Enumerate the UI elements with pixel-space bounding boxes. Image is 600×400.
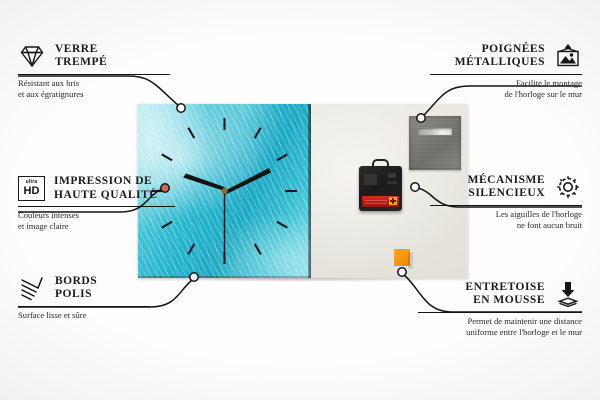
feature-title: BORDS POLIS bbox=[55, 275, 97, 302]
quartz-mechanism bbox=[359, 166, 402, 211]
battery bbox=[362, 196, 399, 207]
feature-title: POIGNÉES MÉTALLIQUES bbox=[455, 43, 545, 70]
feature-impression-haute-qualite: ultra HD IMPRESSION DE HAUTE QUALITÉ Cou… bbox=[18, 175, 175, 232]
foam-spacer bbox=[394, 249, 410, 266]
hanging-frame-icon bbox=[554, 42, 582, 70]
infographic-canvas: VERRE TREMPÉ Résistant aux bris et aux é… bbox=[0, 0, 600, 400]
polished-edges-icon bbox=[18, 274, 46, 302]
diamond-icon bbox=[18, 42, 46, 70]
foam-spacer-shadow bbox=[408, 252, 413, 269]
feature-subtitle: Résistant aux bris et aux égratignures bbox=[18, 78, 170, 100]
arrow-down-stack-icon bbox=[554, 280, 582, 308]
feature-title: IMPRESSION DE HAUTE QUALITÉ bbox=[54, 175, 157, 202]
product-image bbox=[138, 104, 468, 278]
feature-title: MÉCANISME SILENCIEUX bbox=[468, 174, 545, 201]
feature-title: VERRE TREMPÉ bbox=[55, 43, 107, 70]
feature-entretoise-en-mousse: ENTRETOISE EN MOUSSE Permet de maintenir… bbox=[418, 280, 582, 338]
ultra-hd-main-label: HD bbox=[24, 186, 40, 197]
feature-divider bbox=[18, 74, 170, 75]
feature-divider bbox=[430, 205, 582, 206]
metal-hanger-plate bbox=[409, 116, 461, 170]
feature-bords-polis: BORDS POLIS Surface lisse et sûre bbox=[18, 274, 150, 321]
feature-verre-trempe: VERRE TREMPÉ Résistant aux bris et aux é… bbox=[18, 42, 170, 100]
feature-title: ENTRETOISE EN MOUSSE bbox=[465, 281, 545, 308]
mechanism-detail bbox=[364, 174, 377, 185]
mechanism-detail bbox=[387, 181, 397, 184]
brushed-metal-grain bbox=[409, 116, 461, 170]
feature-subtitle: Permet de maintenir une distance uniform… bbox=[418, 316, 582, 338]
hanger-slot bbox=[418, 128, 452, 135]
feature-subtitle: Les aiguilles de l'horloge ne font aucun… bbox=[430, 209, 582, 231]
feature-subtitle: Couleurs intenses et image claire bbox=[18, 210, 175, 232]
feature-poignees-metalliques: POIGNÉES MÉTALLIQUES Facilite le montage… bbox=[430, 42, 582, 100]
gear-icon bbox=[554, 173, 582, 201]
mechanism-detail bbox=[388, 173, 396, 178]
feature-subtitle: Facilite le montage de l'horloge sur le … bbox=[430, 78, 582, 100]
feature-mecanisme-silencieux: MÉCANISME SILENCIEUX Les aiguilles de l'… bbox=[430, 173, 582, 231]
ultra-hd-badge-icon: ultra HD bbox=[18, 176, 45, 201]
battery-plus-terminal bbox=[389, 197, 397, 205]
panel-bottom-edge bbox=[138, 276, 311, 278]
feature-divider bbox=[18, 206, 175, 207]
feature-divider bbox=[430, 74, 582, 75]
mechanism-hanging-loop bbox=[372, 159, 389, 169]
battery-label bbox=[365, 198, 387, 204]
feature-divider bbox=[418, 312, 582, 313]
feature-divider bbox=[18, 306, 150, 307]
feature-subtitle: Surface lisse et sûre bbox=[18, 310, 150, 321]
